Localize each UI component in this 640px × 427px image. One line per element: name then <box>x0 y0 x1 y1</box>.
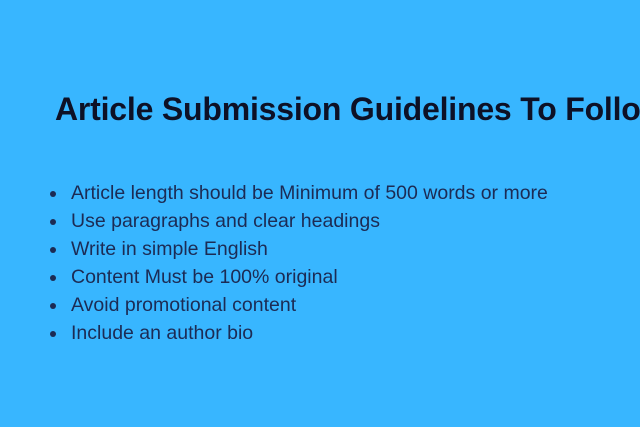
bullet-point-icon <box>50 191 56 197</box>
list-item: Use paragraphs and clear headings <box>44 211 634 231</box>
list-item-label: Content Must be 100% original <box>71 266 338 288</box>
guidelines-list: Article length should be Minimum of 500 … <box>44 183 634 343</box>
list-item-label: Avoid promotional content <box>71 294 296 316</box>
bullet-point-icon <box>50 303 56 309</box>
list-item-label: Write in simple English <box>71 238 268 260</box>
list-item-label: Include an author bio <box>71 322 253 344</box>
list-item-label: Article length should be Minimum of 500 … <box>71 182 548 204</box>
bullet-point-icon <box>50 331 56 337</box>
page-title: Article Submission Guidelines To Follow <box>55 89 625 129</box>
list-item: Write in simple English <box>44 239 634 259</box>
bullet-point-icon <box>50 275 56 281</box>
bullet-point-icon <box>50 247 56 253</box>
list-item: Avoid promotional content <box>44 295 634 315</box>
list-item: Content Must be 100% original <box>44 267 634 287</box>
list-item: Article length should be Minimum of 500 … <box>44 183 634 203</box>
bullet-point-icon <box>50 219 56 225</box>
list-item: Include an author bio <box>44 323 634 343</box>
list-item-label: Use paragraphs and clear headings <box>71 210 380 232</box>
slide-canvas: Article Submission Guidelines To Follow … <box>0 0 640 427</box>
